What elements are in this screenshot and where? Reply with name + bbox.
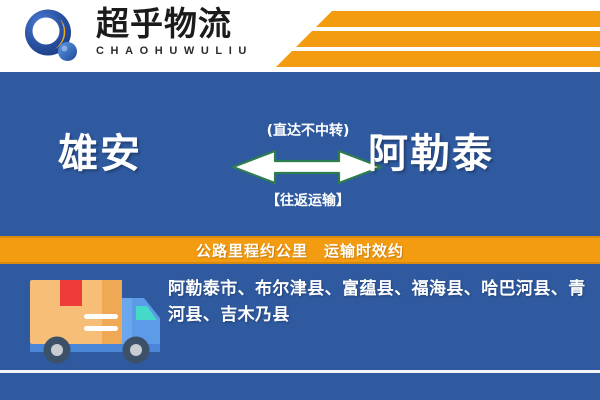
delivery-truck-icon xyxy=(26,274,166,366)
circle-crescent-logo-icon xyxy=(22,8,84,66)
coverage-section: 阿勒泰市、布尔津县、富蕴县、福海县、哈巴河县、青河县、吉木乃县 xyxy=(0,264,600,400)
destination-city: 阿勒泰 xyxy=(368,130,494,178)
route-note-direct: (直达不中转) xyxy=(243,120,373,140)
header-bar: 超乎物流 CHAOHUWULIU xyxy=(0,0,600,72)
brand-name-cn: 超乎物流 xyxy=(96,6,296,42)
logistics-route-poster: 超乎物流 CHAOHUWULIU 雄安 (直达不中转) 【往返运输】 阿勒泰 公… xyxy=(0,0,600,400)
road-line xyxy=(0,370,600,373)
double-arrow-icon xyxy=(231,146,383,186)
brand-wordmark: 超乎物流 CHAOHUWULIU xyxy=(96,6,296,58)
brand-name-en: CHAOHUWULIU xyxy=(96,44,296,58)
route-note-roundtrip: 【往返运输】 xyxy=(243,190,373,210)
route-band: 雄安 (直达不中转) 【往返运输】 阿勒泰 xyxy=(0,72,600,237)
speed-stripes-icon xyxy=(270,0,600,72)
coverage-city-list: 阿勒泰市、布尔津县、富蕴县、福海县、哈巴河县、青河县、吉木乃县 xyxy=(168,276,586,328)
origin-city: 雄安 xyxy=(58,130,142,178)
distance-duration-text: 公路里程约公里 运输时效约 xyxy=(196,240,404,261)
distance-duration-bar: 公路里程约公里 运输时效约 xyxy=(0,236,600,264)
